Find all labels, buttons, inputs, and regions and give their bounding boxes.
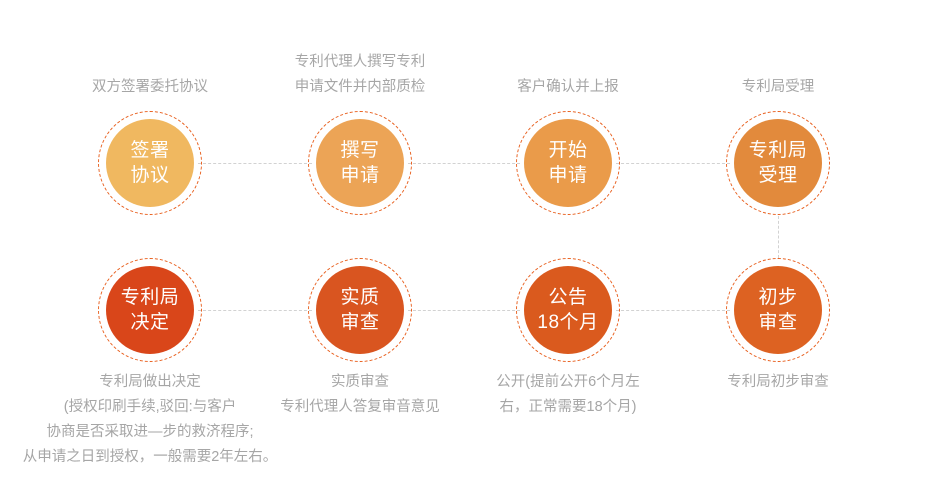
node-disc: 公告 18个月: [524, 266, 612, 354]
node-label-line2: 申请: [548, 163, 587, 188]
node-disc: 专利局 决定: [106, 266, 194, 354]
connector-bottom-3-2: [408, 310, 520, 311]
node-substantive-examination[interactable]: 实质 审查: [308, 258, 412, 362]
caption-line: 客户确认并上报: [517, 75, 619, 100]
caption-line: 专利局初步审查: [727, 370, 829, 395]
node-label-line2: 决定: [130, 310, 169, 335]
process-flow-diagram: 双方签署委托协议 专利代理人撰写专利 申请文件并内部质检 客户确认并上报 专利局…: [0, 0, 925, 494]
node-label-line1: 初步: [758, 285, 797, 310]
caption-line: 右，正常需要18个月): [496, 395, 639, 420]
node-patent-office-accept[interactable]: 专利局 受理: [726, 111, 830, 215]
node-disc: 实质 审查: [316, 266, 404, 354]
node-disc: 开始 申请: [524, 119, 612, 207]
node-draft-application[interactable]: 撰写 申请: [308, 111, 412, 215]
node-label-line2: 18个月: [537, 310, 598, 335]
node-label-line2: 审查: [758, 310, 797, 335]
node-label-line1: 专利局: [121, 285, 180, 310]
connector-bottom-4-3: [616, 310, 730, 311]
node-label-line2: 受理: [758, 163, 797, 188]
caption-below-node-7: 公开(提前公开6个月左 右，正常需要18个月): [496, 370, 639, 420]
node-label-line1: 公告: [548, 285, 587, 310]
caption-above-node-4: 专利局受理: [742, 75, 815, 100]
caption-line: 专利局做出决定: [23, 370, 278, 395]
node-label-line2: 协议: [130, 163, 169, 188]
caption-line: 从申请之日到授权，一般需要2年左右。: [23, 445, 278, 470]
connector-top-3-4: [616, 163, 730, 164]
connector-right-column-down: [778, 216, 779, 258]
node-patent-office-decision[interactable]: 专利局 决定: [98, 258, 202, 362]
connector-bottom-2-1: [198, 310, 312, 311]
caption-line: 公开(提前公开6个月左: [496, 370, 639, 395]
caption-line: 双方签署委托协议: [92, 75, 208, 100]
caption-line: 实质审查: [280, 370, 440, 395]
caption-below-node-6: 实质审查 专利代理人答复审音意见: [280, 370, 440, 420]
node-disc: 专利局 受理: [734, 119, 822, 207]
connector-top-2-3: [408, 163, 520, 164]
node-label-line1: 实质: [340, 285, 379, 310]
node-disc: 撰写 申请: [316, 119, 404, 207]
caption-line: 专利代理人答复审音意见: [280, 395, 440, 420]
caption-above-node-1: 双方签署委托协议: [92, 75, 208, 100]
node-label-line1: 签署: [130, 138, 169, 163]
caption-below-node-8: 专利局初步审查: [727, 370, 829, 395]
caption-above-node-2: 专利代理人撰写专利 申请文件并内部质检: [295, 50, 426, 100]
node-label-line2: 申请: [340, 163, 379, 188]
node-label-line2: 审查: [340, 310, 379, 335]
node-publication-18-months[interactable]: 公告 18个月: [516, 258, 620, 362]
node-label-line1: 专利局: [749, 138, 808, 163]
node-disc: 签署 协议: [106, 119, 194, 207]
node-start-application[interactable]: 开始 申请: [516, 111, 620, 215]
caption-line: 专利代理人撰写专利: [295, 50, 426, 75]
caption-line: (授权印刷手续,驳回:与客户: [23, 395, 278, 420]
caption-line: 专利局受理: [742, 75, 815, 100]
caption-line: 申请文件并内部质检: [295, 75, 426, 100]
caption-line: 协商是否采取进—步的救济程序;: [23, 420, 278, 445]
node-label-line1: 撰写: [340, 138, 379, 163]
node-label-line1: 开始: [548, 138, 587, 163]
node-sign-agreement[interactable]: 签署 协议: [98, 111, 202, 215]
node-disc: 初步 审查: [734, 266, 822, 354]
node-preliminary-examination[interactable]: 初步 审查: [726, 258, 830, 362]
caption-below-node-5: 专利局做出决定 (授权印刷手续,驳回:与客户 协商是否采取进—步的救济程序; 从…: [23, 370, 278, 470]
caption-above-node-3: 客户确认并上报: [517, 75, 619, 100]
connector-top-1-2: [198, 163, 312, 164]
